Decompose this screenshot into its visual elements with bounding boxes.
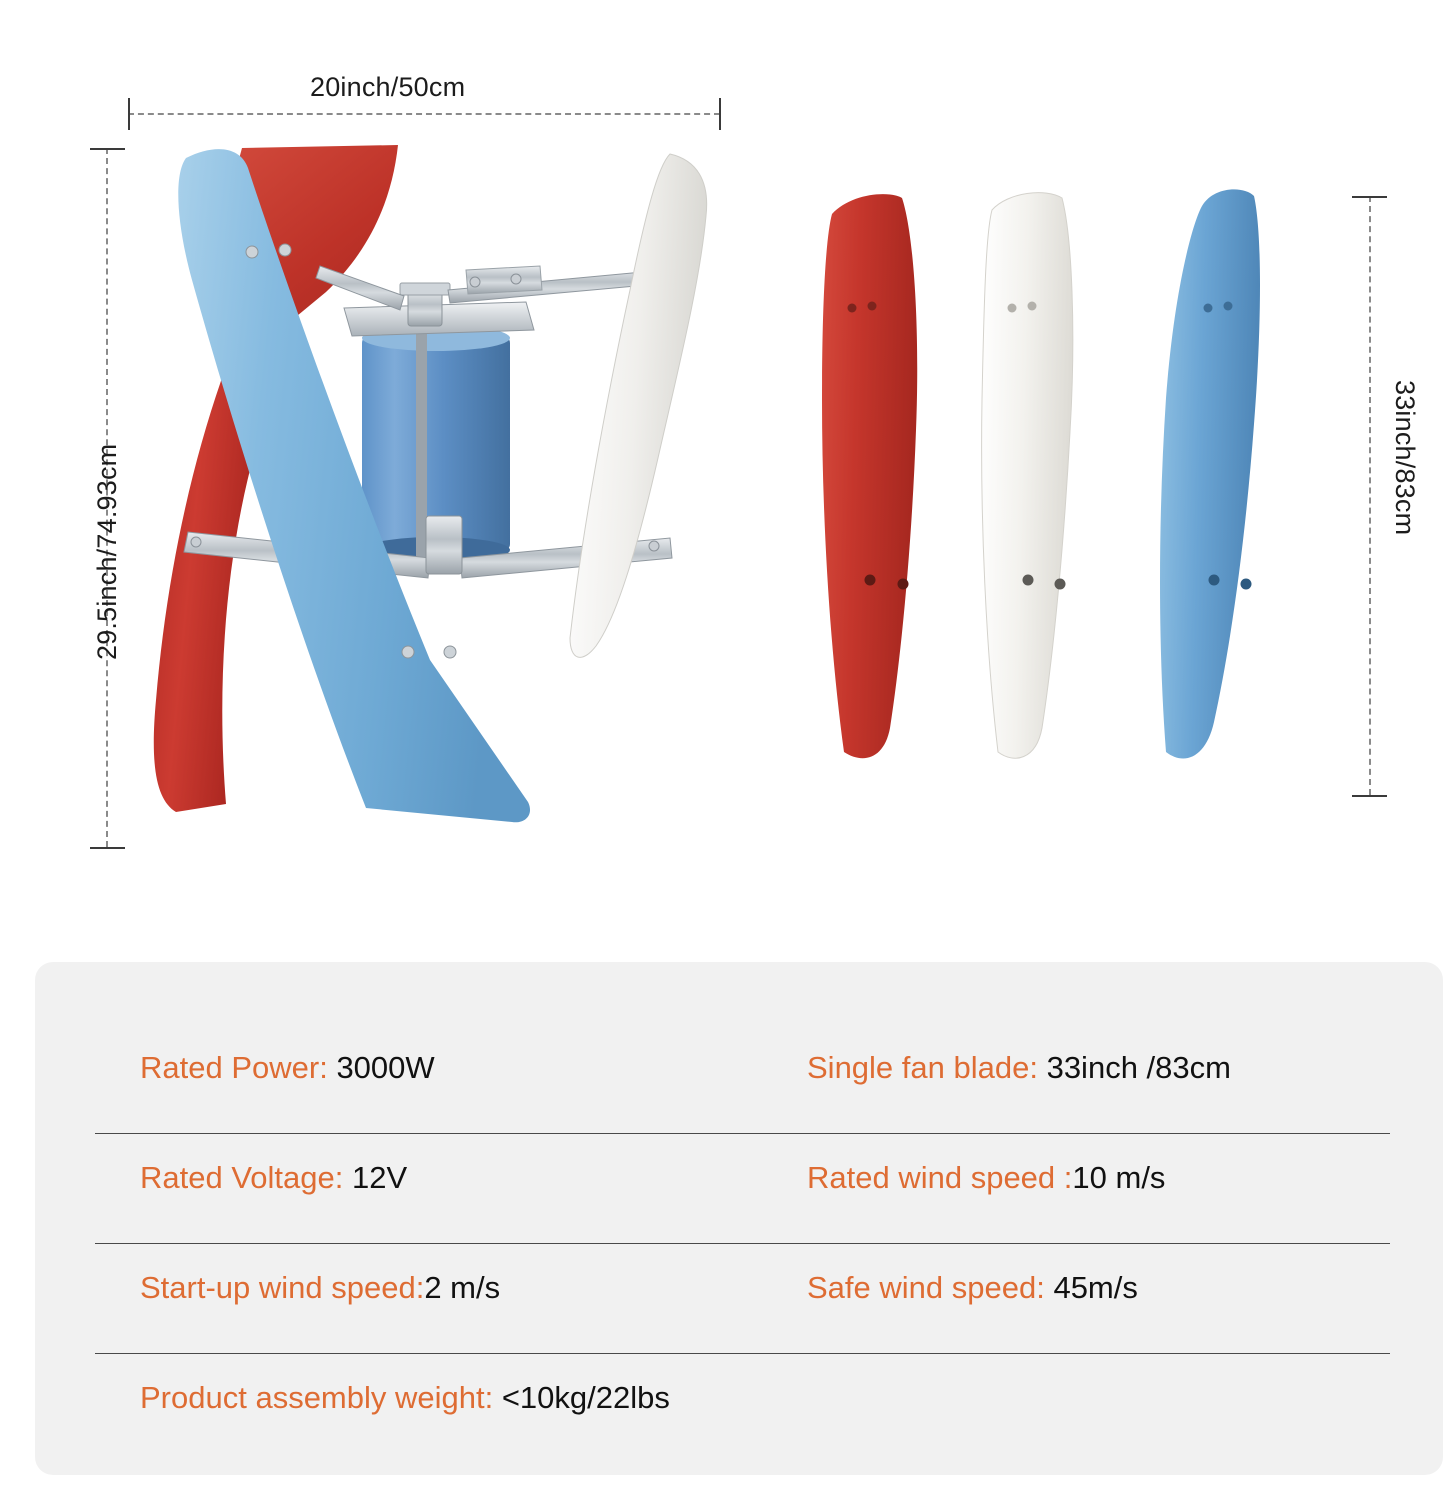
spec-label: Rated Voltage: — [140, 1160, 352, 1196]
spec-rated-wind-speed: Rated wind speed : 10 m/s — [785, 1134, 1390, 1196]
spec-row-2: Rated Voltage: 12V Rated wind speed : 10… — [95, 1134, 1390, 1244]
spec-row-4: Product assembly weight: <10kg/22lbs — [95, 1354, 1390, 1464]
spec-value: 12V — [352, 1160, 407, 1196]
generator-shaft — [416, 326, 427, 561]
hub-collar — [400, 283, 450, 295]
spec-value: 33inch /83cm — [1047, 1050, 1231, 1086]
spec-rated-voltage: Rated Voltage: 12V — [95, 1134, 785, 1196]
spec-row-3: Start-up wind speed: 2 m/s Safe wind spe… — [95, 1244, 1390, 1354]
loose-blade-blue — [1160, 189, 1260, 758]
width-dimension-cap-left — [128, 98, 130, 130]
spec-empty-cell — [785, 1354, 1390, 1380]
spec-startup-wind-speed: Start-up wind speed: 2 m/s — [95, 1244, 785, 1306]
lower-hub-clamp — [426, 516, 462, 574]
spec-rated-power: Rated Power: 3000W — [95, 1024, 785, 1086]
spec-value: <10kg/22lbs — [502, 1380, 670, 1416]
width-dimension-label: 20inch/50cm — [310, 72, 465, 103]
spec-label: Rated wind speed : — [807, 1160, 1072, 1196]
spec-safe-wind-speed: Safe wind speed: 45m/s — [785, 1244, 1390, 1306]
turbine-blade-white — [570, 154, 707, 657]
loose-blades-illustration — [810, 180, 1370, 800]
loose-blade-red — [822, 194, 917, 758]
specification-rows: Rated Power: 3000W Single fan blade: 33i… — [95, 1024, 1390, 1464]
width-dimension-cap-right — [719, 98, 721, 130]
spec-label: Single fan blade: — [807, 1050, 1047, 1086]
product-photo-area: 20inch/50cm 29.5inch/74.93cm 33inch/83cm — [0, 0, 1448, 940]
lower-arm-bolt-2 — [649, 541, 659, 551]
spec-single-fan-blade: Single fan blade: 33inch /83cm — [785, 1024, 1390, 1086]
blade-length-dimension-label: 33inch/83cm — [1389, 380, 1420, 535]
upper-arm-bolt-1 — [470, 277, 480, 287]
spec-value: 3000W — [336, 1050, 434, 1086]
spec-label: Rated Power: — [140, 1050, 336, 1086]
lower-arm-bolt-1 — [191, 537, 201, 547]
upper-arm-bolt-2 — [511, 274, 521, 284]
spec-row-1: Rated Power: 3000W Single fan blade: 33i… — [95, 1024, 1390, 1134]
height-dimension-label: 29.5inch/74.93cm — [92, 444, 123, 660]
assembled-turbine-illustration — [130, 140, 720, 840]
loose-blade-white — [982, 193, 1073, 759]
height-dimension-cap-top — [90, 148, 125, 150]
spec-value: 10 m/s — [1072, 1160, 1165, 1196]
spec-label: Product assembly weight: — [140, 1380, 502, 1416]
specification-panel: Rated Power: 3000W Single fan blade: 33i… — [35, 962, 1443, 1475]
spec-label: Safe wind speed: — [807, 1270, 1053, 1306]
spec-label: Start-up wind speed: — [140, 1270, 424, 1306]
spec-product-assembly-weight: Product assembly weight: <10kg/22lbs — [95, 1354, 785, 1416]
width-dimension-line — [128, 113, 720, 115]
blue-blade-lower-bolts — [402, 646, 456, 658]
spec-value: 2 m/s — [424, 1270, 500, 1306]
spec-value: 45m/s — [1053, 1270, 1137, 1306]
height-dimension-cap-bottom — [90, 847, 125, 849]
